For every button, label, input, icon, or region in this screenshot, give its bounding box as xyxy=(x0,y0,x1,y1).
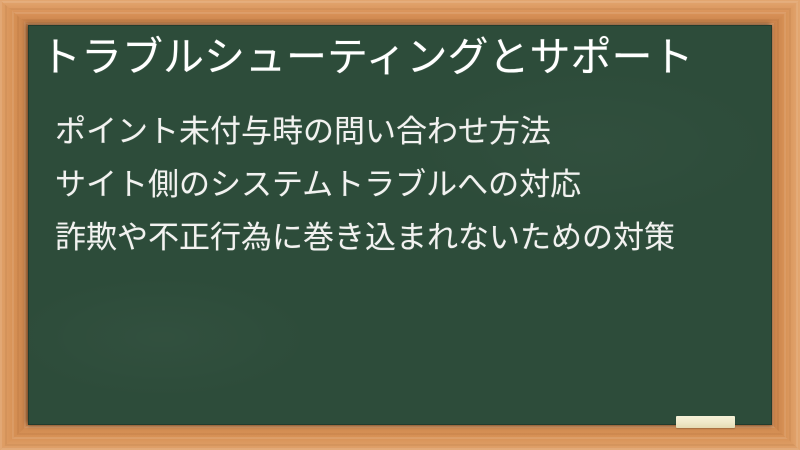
bullet-item: サイト側のシステムトラブルへの対応 xyxy=(55,158,762,211)
frame-plank-right xyxy=(772,0,800,450)
chalkboard-surface: トラブルシューティングとサポート ポイント未付与時の問い合わせ方法 サイト側のシ… xyxy=(28,25,772,425)
wood-grain-texture-bottom xyxy=(0,425,800,450)
chalk-stick-icon xyxy=(676,416,735,428)
slide-title: トラブルシューティングとサポート xyxy=(40,30,694,84)
blackboard-slide: トラブルシューティングとサポート ポイント未付与時の問い合わせ方法 サイト側のシ… xyxy=(0,0,800,450)
wood-grain-texture-left xyxy=(0,0,28,450)
wood-grain-texture-right xyxy=(772,0,800,450)
frame-plank-bottom xyxy=(0,425,800,450)
bullet-list: ポイント未付与時の問い合わせ方法 サイト側のシステムトラブルへの対応 詐欺や不正… xyxy=(55,105,762,264)
frame-plank-left xyxy=(0,0,28,450)
frame-plank-top xyxy=(0,0,800,25)
bullet-item: 詐欺や不正行為に巻き込まれないための対策 xyxy=(55,211,762,264)
bullet-item: ポイント未付与時の問い合わせ方法 xyxy=(55,105,762,158)
chalkboard-content: トラブルシューティングとサポート ポイント未付与時の問い合わせ方法 サイト側のシ… xyxy=(28,25,772,425)
wood-grain-texture-top xyxy=(0,0,800,25)
